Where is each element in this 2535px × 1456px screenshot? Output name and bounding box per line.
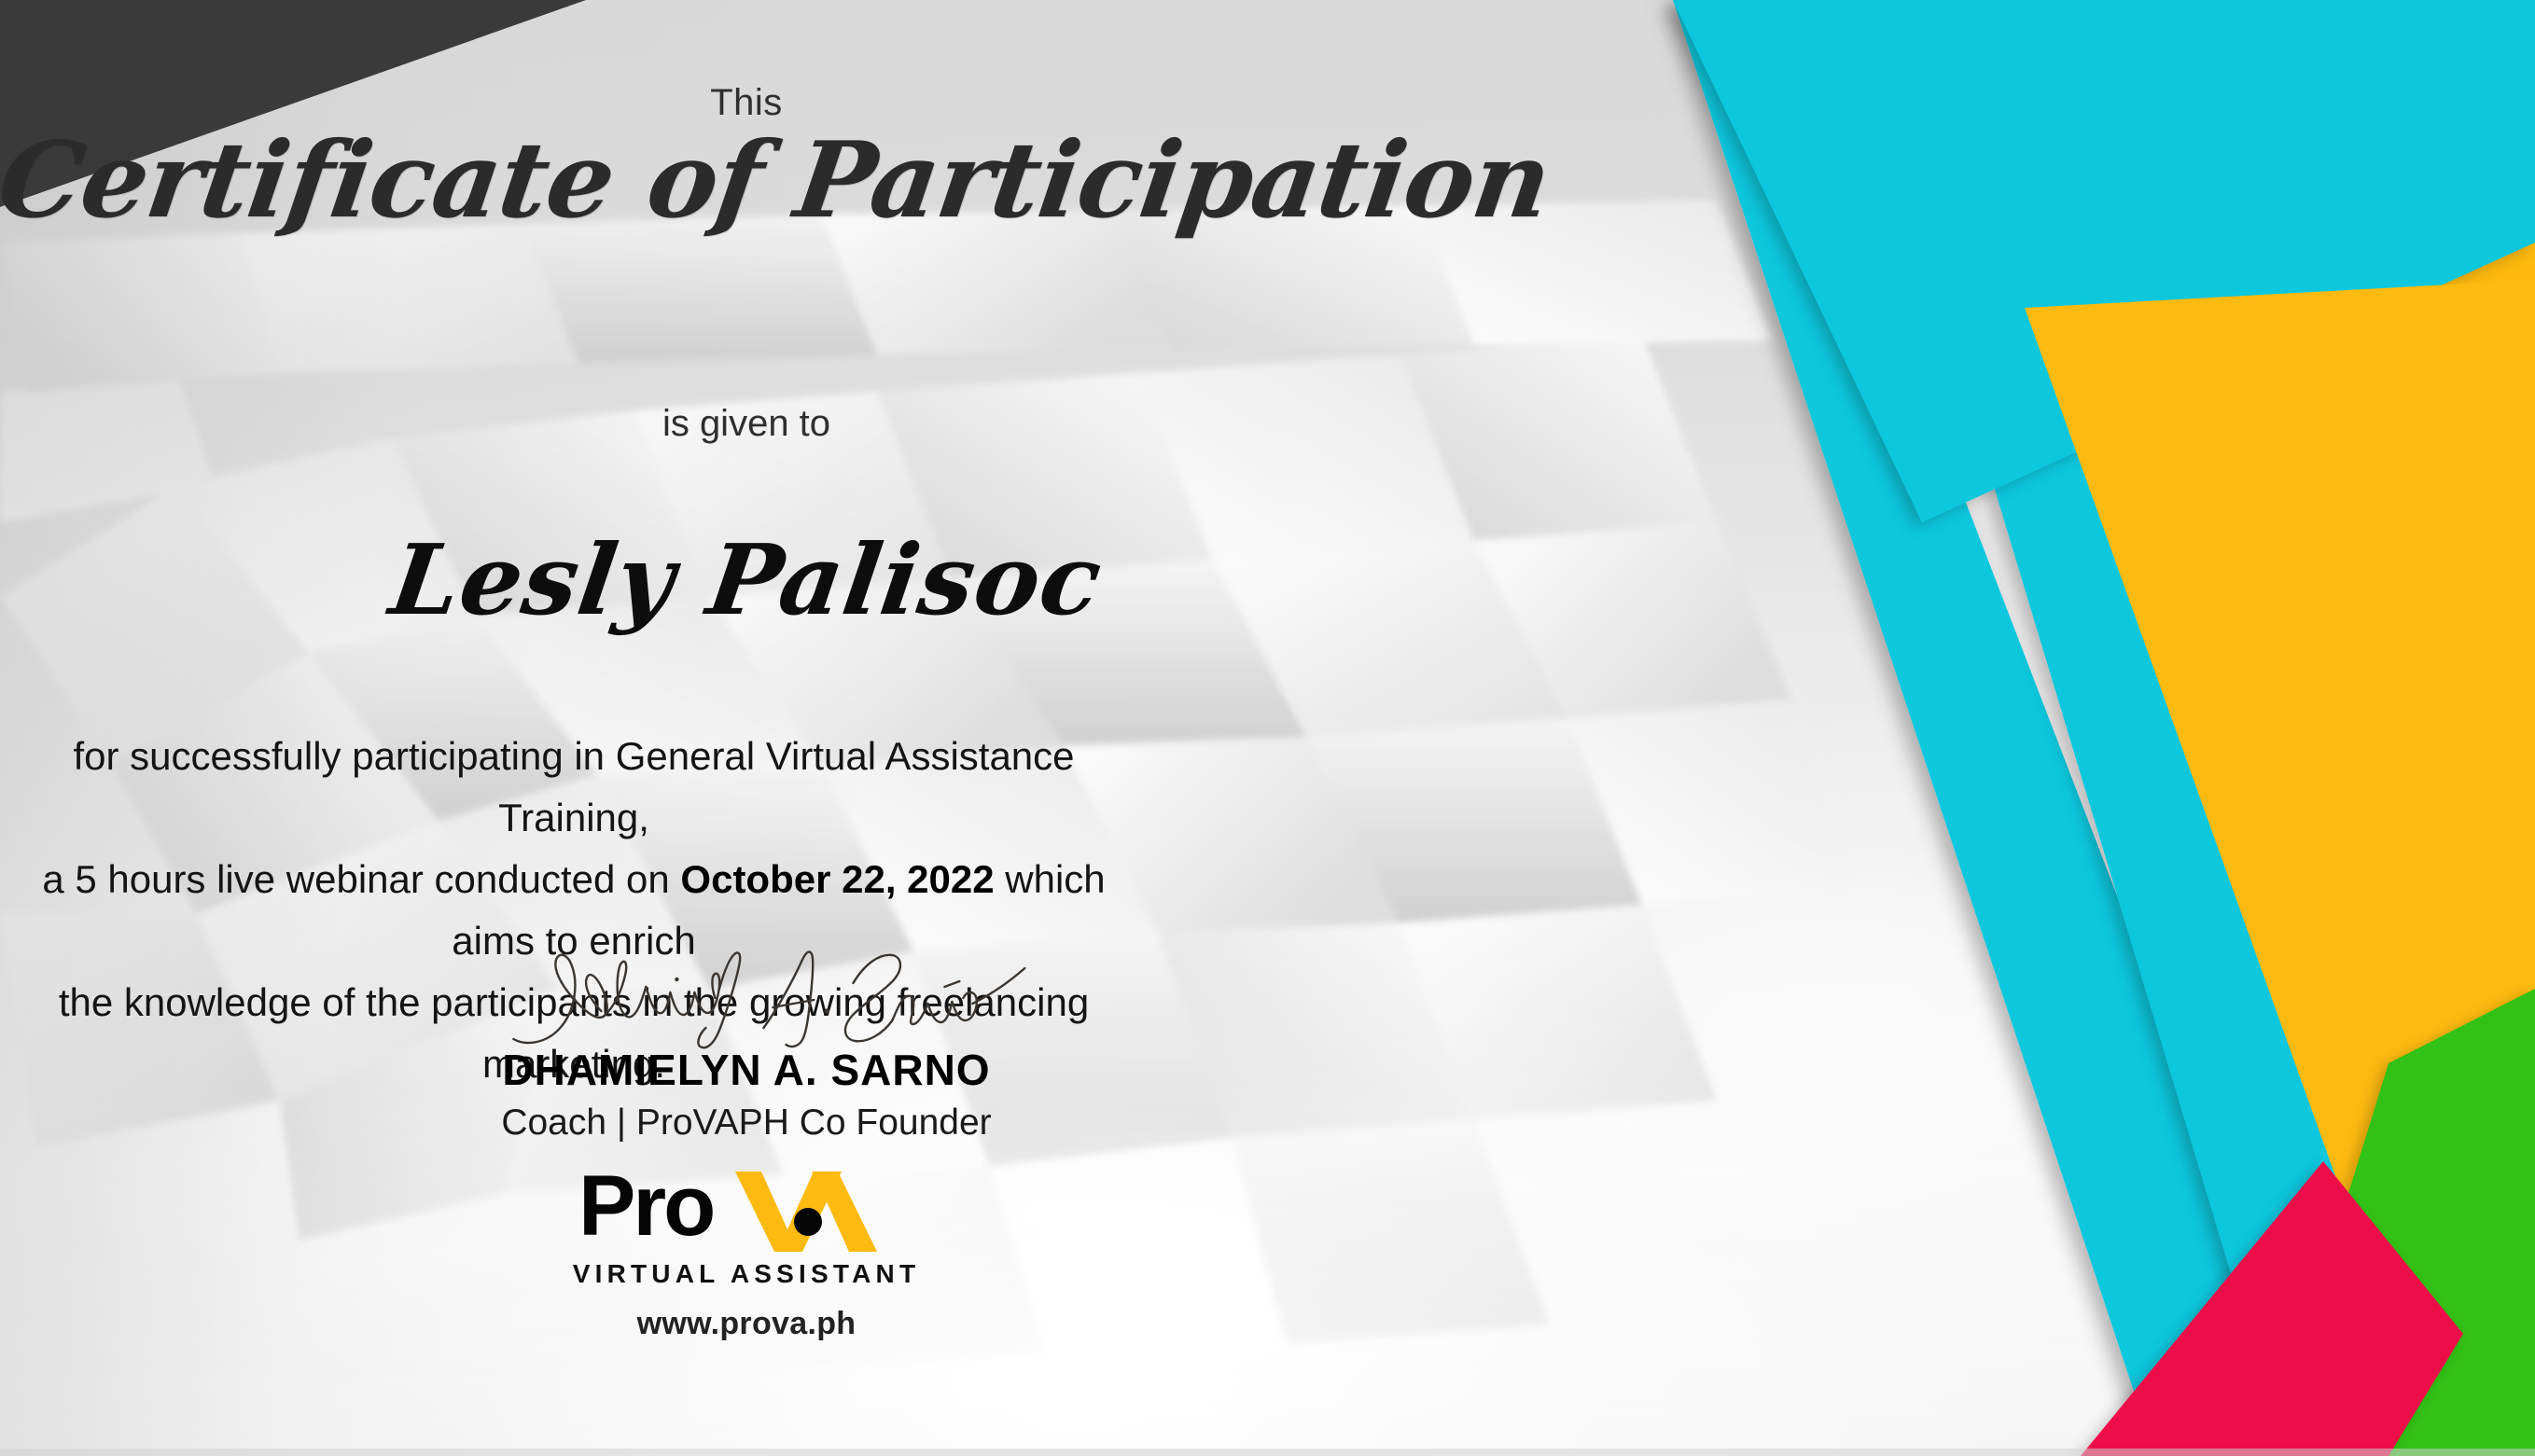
given-to-line: is given to bbox=[0, 403, 1493, 445]
certificate-canvas: This Certificate of Participation is giv… bbox=[0, 0, 2535, 1456]
body-line-1: for successfully participating in Genera… bbox=[73, 734, 1074, 839]
event-date: October 22, 2022 bbox=[680, 857, 994, 901]
signature-block: DHAMIELYN A. SARNO Coach | ProVAPH Co Fo… bbox=[392, 942, 1101, 1144]
intro-line: This bbox=[0, 82, 1493, 124]
page-title: Certificate of Participation bbox=[0, 119, 1501, 242]
signer-printed-name: DHAMIELYN A. SARNO bbox=[392, 1045, 1101, 1095]
signer-role: Coach | ProVAPH Co Founder bbox=[392, 1102, 1101, 1144]
certificate-content: This Certificate of Participation is giv… bbox=[0, 0, 1493, 1456]
handwritten-signature-icon bbox=[392, 942, 1101, 1052]
body-line-2-prefix: a 5 hours live webinar conducted on bbox=[42, 857, 680, 901]
logo-website-url: www.prova.ph bbox=[392, 1306, 1101, 1342]
svg-text:Pro: Pro bbox=[578, 1168, 713, 1254]
brand-logo-block: Pro VIRTUAL ASSISTANT www.prova.ph bbox=[392, 1168, 1101, 1342]
recipient-name: Lesly Palisoc bbox=[0, 522, 1501, 637]
logo-tagline: VIRTUAL ASSISTANT bbox=[392, 1259, 1101, 1289]
prova-logo-icon: Pro bbox=[392, 1168, 1101, 1257]
